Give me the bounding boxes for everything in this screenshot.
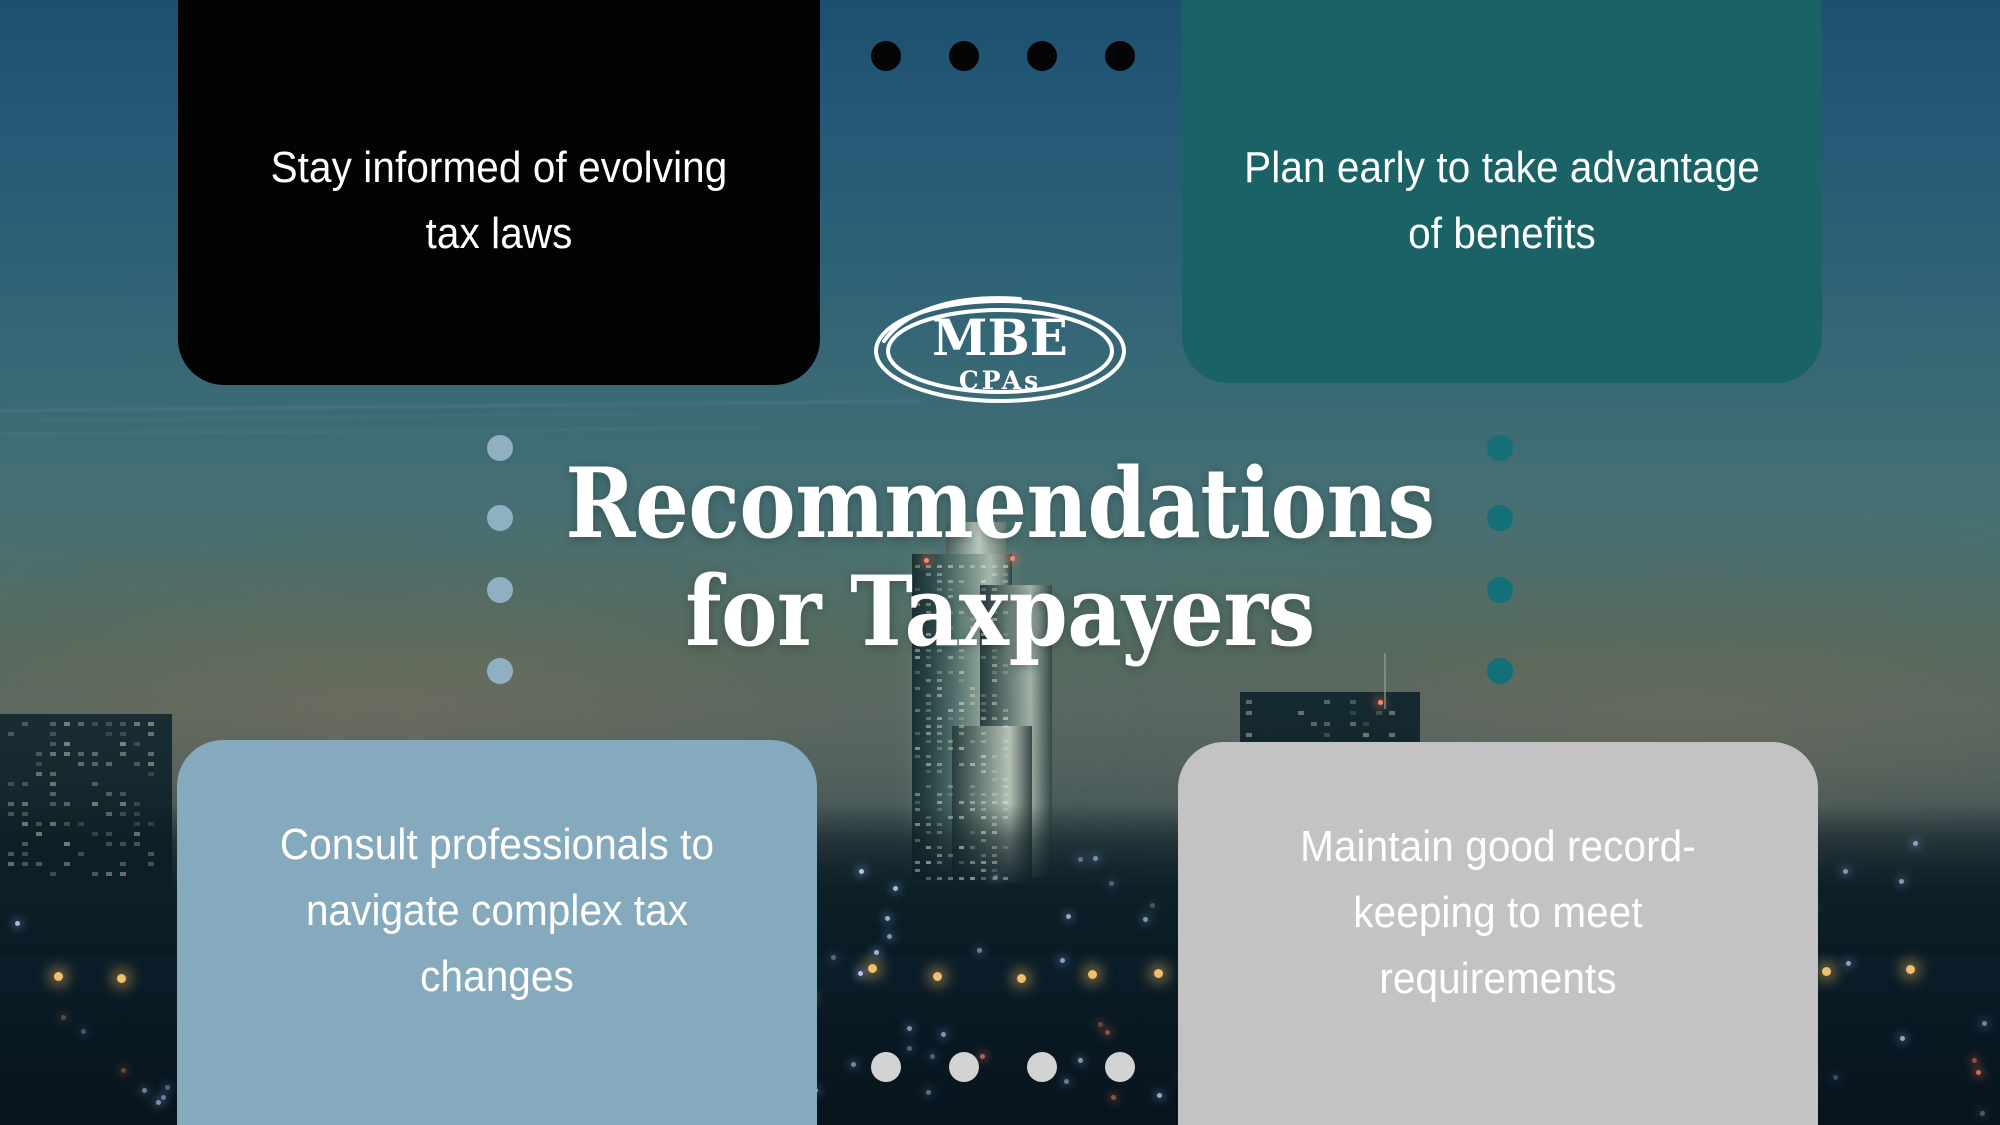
street-lamp: [1906, 965, 1915, 974]
building-window: [22, 822, 28, 826]
tower-window: [959, 702, 964, 705]
building-window: [148, 732, 154, 736]
tower-window: [926, 740, 931, 743]
tower-window: [992, 694, 997, 697]
building-window: [36, 762, 42, 766]
building-window: [64, 862, 70, 866]
tower-window: [992, 671, 997, 674]
building-window: [8, 732, 14, 736]
building-window: [22, 862, 28, 866]
city-light: [1846, 961, 1851, 966]
water-reflection: [81, 1029, 86, 1034]
tower-window: [981, 740, 986, 743]
tower-window: [1003, 808, 1008, 811]
tower-window: [970, 831, 975, 834]
building-window: [134, 842, 140, 846]
building-window: [120, 732, 126, 736]
street-lamp: [1154, 969, 1163, 978]
tower-window: [970, 846, 975, 849]
tower-window: [926, 763, 931, 766]
decorative-dot-right: [1487, 505, 1513, 531]
tower-window: [937, 801, 942, 804]
building-window: [1389, 733, 1395, 737]
tower-window: [981, 709, 986, 712]
building-window: [36, 862, 42, 866]
decorative-dot-bottom: [1027, 1052, 1057, 1082]
tower-window: [992, 755, 997, 758]
building-window: [106, 722, 112, 726]
city-light: [893, 886, 898, 891]
tower-window: [959, 877, 964, 880]
building-window: [1246, 700, 1252, 704]
tower-window: [1003, 801, 1008, 804]
building-window: [36, 832, 42, 836]
tower-window: [926, 725, 931, 728]
tower-window: [948, 671, 953, 674]
building-window: [120, 802, 126, 806]
tower-window: [959, 725, 964, 728]
building-window: [1246, 733, 1252, 737]
city-light: [993, 875, 998, 880]
building-window: [1363, 722, 1369, 726]
tower-window: [981, 808, 986, 811]
building-window: [148, 862, 154, 866]
tower-window: [937, 861, 942, 864]
tower-window: [1003, 877, 1008, 880]
building-window: [8, 802, 14, 806]
building-window: [120, 872, 126, 876]
tower-window: [1003, 747, 1008, 750]
building-window: [50, 772, 56, 776]
building-window: [8, 852, 14, 856]
city-light: [858, 971, 863, 976]
building-window: [1376, 711, 1382, 715]
building-window: [36, 772, 42, 776]
building-window: [106, 732, 112, 736]
tower-window: [992, 816, 997, 819]
street-lamp: [1822, 967, 1831, 976]
building-window: [1363, 733, 1369, 737]
street-lamp: [117, 974, 126, 983]
building-window: [120, 842, 126, 846]
city-light: [977, 948, 982, 953]
building-window: [64, 802, 70, 806]
card-text: Maintain good record-keeping to meet req…: [1239, 742, 1758, 1012]
card-maintain-records: Maintain good record-keeping to meet req…: [1178, 742, 1818, 1125]
tower-window: [992, 823, 997, 826]
tower-window: [992, 770, 997, 773]
building-window: [134, 762, 140, 766]
tower-window: [926, 717, 931, 720]
tower-window: [1003, 725, 1008, 728]
water-reflection: [161, 1095, 166, 1100]
building-window: [1350, 722, 1356, 726]
building-window: [50, 822, 56, 826]
building-window: [92, 722, 98, 726]
tower-window: [937, 740, 942, 743]
decorative-dot-left: [487, 505, 513, 531]
card-text: Consult professionals to navigate comple…: [238, 740, 757, 1010]
warm-accent-light: [1111, 1095, 1116, 1100]
tower-window: [937, 823, 942, 826]
mast-beacon: [1378, 700, 1383, 705]
building-window: [148, 852, 154, 856]
tower-window: [937, 854, 942, 857]
tower-window: [959, 732, 964, 735]
tower-window: [1003, 816, 1008, 819]
tower-window: [981, 732, 986, 735]
tower-window: [937, 831, 942, 834]
warm-accent-light: [61, 1015, 66, 1020]
tower-window: [915, 709, 920, 712]
tower-window: [970, 687, 975, 690]
tower-window: [915, 732, 920, 735]
tower-window: [981, 854, 986, 857]
building-window: [78, 762, 84, 766]
water-reflection: [1980, 1111, 1985, 1116]
tower-window: [970, 740, 975, 743]
building-window: [134, 822, 140, 826]
infographic-canvas: Stay informed of evolving tax laws Plan …: [0, 0, 2000, 1125]
tower-window: [1003, 671, 1008, 674]
building-window: [50, 742, 56, 746]
tower-window: [992, 869, 997, 872]
tower-window: [948, 740, 953, 743]
tower-window: [915, 755, 920, 758]
building-window: [78, 752, 84, 756]
tower-window: [948, 793, 953, 796]
tower-window: [992, 717, 997, 720]
city-light: [874, 950, 879, 955]
tower-window: [937, 793, 942, 796]
building-window: [120, 752, 126, 756]
tower-window: [926, 831, 931, 834]
building-window: [134, 742, 140, 746]
tower-window: [937, 877, 942, 880]
tower-window: [992, 793, 997, 796]
logo-primary-text: MBE: [932, 308, 1068, 367]
building-window: [78, 722, 84, 726]
decorative-dot-right: [1487, 577, 1513, 603]
tower-window: [926, 816, 931, 819]
tower-window: [937, 679, 942, 682]
tower-window: [937, 747, 942, 750]
building-window: [8, 782, 14, 786]
decorative-dot-top: [871, 41, 901, 71]
building-window: [120, 812, 126, 816]
building-window: [64, 722, 70, 726]
building-window: [92, 872, 98, 876]
tower-window: [926, 694, 931, 697]
tower-window: [915, 839, 920, 842]
building-window: [1311, 722, 1317, 726]
city-light: [15, 921, 20, 926]
tower-window: [915, 801, 920, 804]
building-window: [64, 752, 70, 756]
tower-window: [926, 861, 931, 864]
decorative-dot-top: [1105, 41, 1135, 71]
tower-window: [1003, 709, 1008, 712]
tower-window: [992, 702, 997, 705]
card-text: Plan early to take advantage of benefits: [1241, 135, 1764, 383]
tower-window: [926, 770, 931, 773]
building-window: [106, 762, 112, 766]
tower-window: [970, 877, 975, 880]
city-light: [831, 955, 836, 960]
city-light: [1899, 879, 1904, 884]
tower-window: [970, 785, 975, 788]
tower-window: [937, 763, 942, 766]
building-window: [50, 802, 56, 806]
building-window: [148, 752, 154, 756]
tower-window: [926, 785, 931, 788]
building-window: [1324, 700, 1330, 704]
tower-window: [915, 687, 920, 690]
tower-window: [992, 679, 997, 682]
building-window: [1324, 722, 1330, 726]
tower-window: [915, 823, 920, 826]
building-window: [22, 852, 28, 856]
building-window: [22, 782, 28, 786]
tower-window: [937, 725, 942, 728]
building-window: [50, 732, 56, 736]
water-reflection: [1900, 1036, 1905, 1041]
tower-window: [948, 785, 953, 788]
tower-window: [959, 861, 964, 864]
tower-window: [959, 816, 964, 819]
building-window: [92, 832, 98, 836]
tower-window: [981, 755, 986, 758]
tower-window: [992, 854, 997, 857]
tower-window: [970, 793, 975, 796]
tower-window: [959, 717, 964, 720]
building-window: [134, 802, 140, 806]
building-window: [120, 862, 126, 866]
tower-window: [959, 846, 964, 849]
building-window: [8, 812, 14, 816]
building-window: [64, 742, 70, 746]
tower-window: [959, 747, 964, 750]
tower-window: [1003, 778, 1008, 781]
building-window: [36, 752, 42, 756]
decorative-dot-top: [1027, 41, 1057, 71]
building-window: [148, 822, 154, 826]
building-window: [36, 822, 42, 826]
warm-accent-light: [1972, 1058, 1977, 1063]
tower-window: [970, 808, 975, 811]
tower-window: [948, 709, 953, 712]
card-consult-professionals: Consult professionals to navigate comple…: [177, 740, 817, 1125]
tower-window: [981, 801, 986, 804]
tower-window: [981, 816, 986, 819]
building-window: [120, 722, 126, 726]
city-light: [1913, 841, 1918, 846]
card-plan-early: Plan early to take advantage of benefits: [1182, 0, 1822, 383]
building-window: [8, 862, 14, 866]
building-window: [1389, 711, 1395, 715]
building-window: [134, 832, 140, 836]
page-title-line-2: for Taxpayers: [560, 556, 1440, 664]
tower-window: [926, 732, 931, 735]
tower-window: [970, 702, 975, 705]
decorative-dot-top: [949, 41, 979, 71]
tower-window: [970, 694, 975, 697]
tower-window: [992, 778, 997, 781]
building-window: [92, 752, 98, 756]
tower-window: [926, 702, 931, 705]
decorative-dot-bottom: [949, 1052, 979, 1082]
decorative-dot-left: [487, 435, 513, 461]
warm-accent-light: [1976, 1070, 1981, 1075]
building-window: [78, 852, 84, 856]
water-reflection: [156, 1100, 161, 1105]
building-window: [134, 812, 140, 816]
tower-window: [959, 763, 964, 766]
warm-accent-light: [121, 1068, 126, 1073]
tower-window: [937, 808, 942, 811]
tower-window: [937, 694, 942, 697]
tower-window: [915, 869, 920, 872]
building-window: [92, 782, 98, 786]
building-window: [106, 842, 112, 846]
city-light: [1060, 958, 1065, 963]
tower-window: [1003, 793, 1008, 796]
decorative-dot-left: [487, 577, 513, 603]
tower-window: [970, 861, 975, 864]
warm-accent-light: [1105, 1030, 1110, 1035]
page-title-line-1: Recommendations: [560, 452, 1440, 556]
tower-window: [926, 709, 931, 712]
tower-window: [926, 877, 931, 880]
tower-window: [959, 709, 964, 712]
building-window: [1298, 711, 1304, 715]
tower-window: [981, 694, 986, 697]
tower-window: [926, 823, 931, 826]
tower-window: [915, 861, 920, 864]
city-light: [1093, 856, 1098, 861]
tower-window: [937, 717, 942, 720]
building-window: [22, 722, 28, 726]
tower-window: [970, 763, 975, 766]
building-window: [64, 822, 70, 826]
building-window: [50, 872, 56, 876]
building-window: [106, 812, 112, 816]
tower-window: [926, 755, 931, 758]
tower-window: [948, 816, 953, 819]
tower-window: [948, 854, 953, 857]
tower-window: [915, 671, 920, 674]
building-window: [78, 822, 84, 826]
card-text: Stay informed of evolving tax laws: [244, 135, 754, 385]
tower-window: [948, 717, 953, 720]
water-reflection: [165, 1085, 170, 1090]
city-light: [859, 869, 864, 874]
building-window: [22, 812, 28, 816]
tower-window: [915, 793, 920, 796]
tower-window: [992, 846, 997, 849]
decorative-dot-right: [1487, 435, 1513, 461]
building-window: [92, 762, 98, 766]
building-window: [50, 782, 56, 786]
card-stay-informed: Stay informed of evolving tax laws: [178, 0, 820, 385]
tower-window: [937, 732, 942, 735]
tower-window: [981, 831, 986, 834]
logo-secondary-text: CPAs: [959, 366, 1041, 395]
building-window: [148, 762, 154, 766]
tower-window: [959, 801, 964, 804]
tower-window: [937, 687, 942, 690]
building-window: [148, 722, 154, 726]
tower-window: [937, 671, 942, 674]
warm-accent-light: [980, 1054, 985, 1059]
tower-window: [937, 846, 942, 849]
building-window: [134, 722, 140, 726]
decorative-dot-bottom: [1105, 1052, 1135, 1082]
tower-window: [981, 877, 986, 880]
building-window: [106, 832, 112, 836]
tower-window: [1003, 846, 1008, 849]
decorative-dot-bottom: [871, 1052, 901, 1082]
tower-window: [981, 702, 986, 705]
building-window: [1246, 711, 1252, 715]
tower-window: [981, 869, 986, 872]
building-window: [22, 842, 28, 846]
tower-window: [1003, 740, 1008, 743]
building-window: [50, 722, 56, 726]
tower-window: [981, 793, 986, 796]
building-window: [22, 802, 28, 806]
building-window: [120, 742, 126, 746]
tower-window: [981, 717, 986, 720]
city-light: [1843, 869, 1848, 874]
tower-window: [981, 839, 986, 842]
tower-window: [915, 747, 920, 750]
tower-window: [948, 747, 953, 750]
building-window: [50, 792, 56, 796]
tower-window: [959, 679, 964, 682]
tower-window: [926, 679, 931, 682]
tower-window: [981, 861, 986, 864]
tower-window: [1003, 717, 1008, 720]
tower-window: [959, 671, 964, 674]
tower-window: [992, 861, 997, 864]
tower-window: [992, 801, 997, 804]
tower-window: [970, 801, 975, 804]
building-window: [1350, 700, 1356, 704]
page-title: Recommendations for Taxpayers: [500, 452, 1500, 663]
water-reflection: [851, 1062, 856, 1067]
building-window: [1350, 711, 1356, 715]
mbe-cpas-logo: MBE CPAs: [870, 293, 1130, 409]
tower-window: [981, 763, 986, 766]
decorative-dot-left: [487, 658, 513, 684]
building-window: [106, 872, 112, 876]
tower-window: [1003, 785, 1008, 788]
tower-window: [926, 846, 931, 849]
decorative-dot-right: [1487, 658, 1513, 684]
street-lamp: [1088, 970, 1097, 979]
building-window: [148, 772, 154, 776]
building-window: [1324, 733, 1330, 737]
tower-window: [992, 831, 997, 834]
building-window: [64, 842, 70, 846]
tower-window: [981, 770, 986, 773]
building-window: [92, 802, 98, 806]
tower-window: [915, 808, 920, 811]
tower-window: [937, 770, 942, 773]
building-window: [50, 752, 56, 756]
tower-window: [1003, 755, 1008, 758]
